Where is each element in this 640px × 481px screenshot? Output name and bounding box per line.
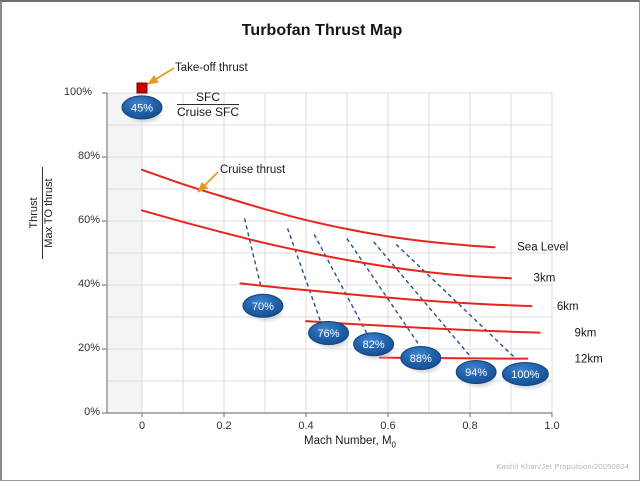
y-tick-0: 0% — [62, 406, 100, 418]
altitude-label-9km: 9km — [575, 327, 597, 339]
sfc-ratio-annotation: SFC Cruise SFC — [177, 91, 239, 118]
altitude-label-12km: 12km — [575, 354, 603, 366]
y-tick-40: 40% — [62, 278, 100, 290]
y-tick-100: 100% — [54, 86, 92, 98]
fan-speed-bubble-label: 70% — [252, 301, 274, 313]
takeoff-arrow-icon — [148, 68, 174, 84]
altitude-label-sea-level: Sea Level — [517, 242, 568, 254]
x-tick-0.2: 0.2 — [204, 420, 244, 432]
sfc-numerator: SFC — [177, 91, 239, 105]
altitude-label-3km: 3km — [534, 273, 556, 285]
sfc-line-76pct — [288, 228, 321, 320]
chart-window: Turbofan Thrust Map Sea Level3km6km9km12… — [0, 0, 640, 481]
fan-speed-bubble-label: 88% — [410, 353, 432, 365]
y-axis-denominator: Max TO thrust — [43, 133, 56, 293]
fan-speed-bubble-label: 82% — [363, 339, 385, 351]
x-tick-0: 0 — [122, 420, 162, 432]
fan-speed-bubble-label: 94% — [465, 367, 487, 379]
x-axis-title-subscript: 0 — [392, 440, 396, 449]
y-tick-60: 60% — [62, 214, 100, 226]
x-tick-0.8: 0.8 — [450, 420, 490, 432]
takeoff-thrust-marker — [137, 83, 147, 93]
x-axis-title: Mach Number, M0 — [200, 435, 500, 449]
x-tick-0.4: 0.4 — [286, 420, 326, 432]
x-tick-1.0: 1.0 — [532, 420, 572, 432]
altitude-label-6km: 6km — [557, 301, 579, 313]
x-tick-0.6: 0.6 — [368, 420, 408, 432]
thrust-curve-6km — [240, 283, 531, 306]
sfc-denominator: Cruise SFC — [177, 105, 239, 118]
credit-text: Kashif Khan/Jet Propulsion/20050824 — [496, 462, 629, 471]
takeoff-thrust-annotation: Take-off thrust — [175, 62, 248, 74]
fan-speed-bubble-label: 45% — [131, 102, 153, 114]
cruise-thrust-annotation: Cruise thrust — [220, 164, 285, 176]
y-axis-title: Thrust Max TO thrust — [29, 133, 55, 293]
sfc-line-100pct — [396, 244, 515, 358]
thrust-curve-sea-level — [142, 170, 495, 247]
y-axis-numerator: Thrust — [29, 167, 43, 259]
y-tick-20: 20% — [62, 342, 100, 354]
x-axis-title-text: Mach Number, M — [304, 435, 392, 447]
fan-speed-bubble-label: 76% — [318, 328, 340, 340]
y-tick-80: 80% — [62, 150, 100, 162]
fan-speed-bubble-label: 100% — [511, 369, 539, 381]
